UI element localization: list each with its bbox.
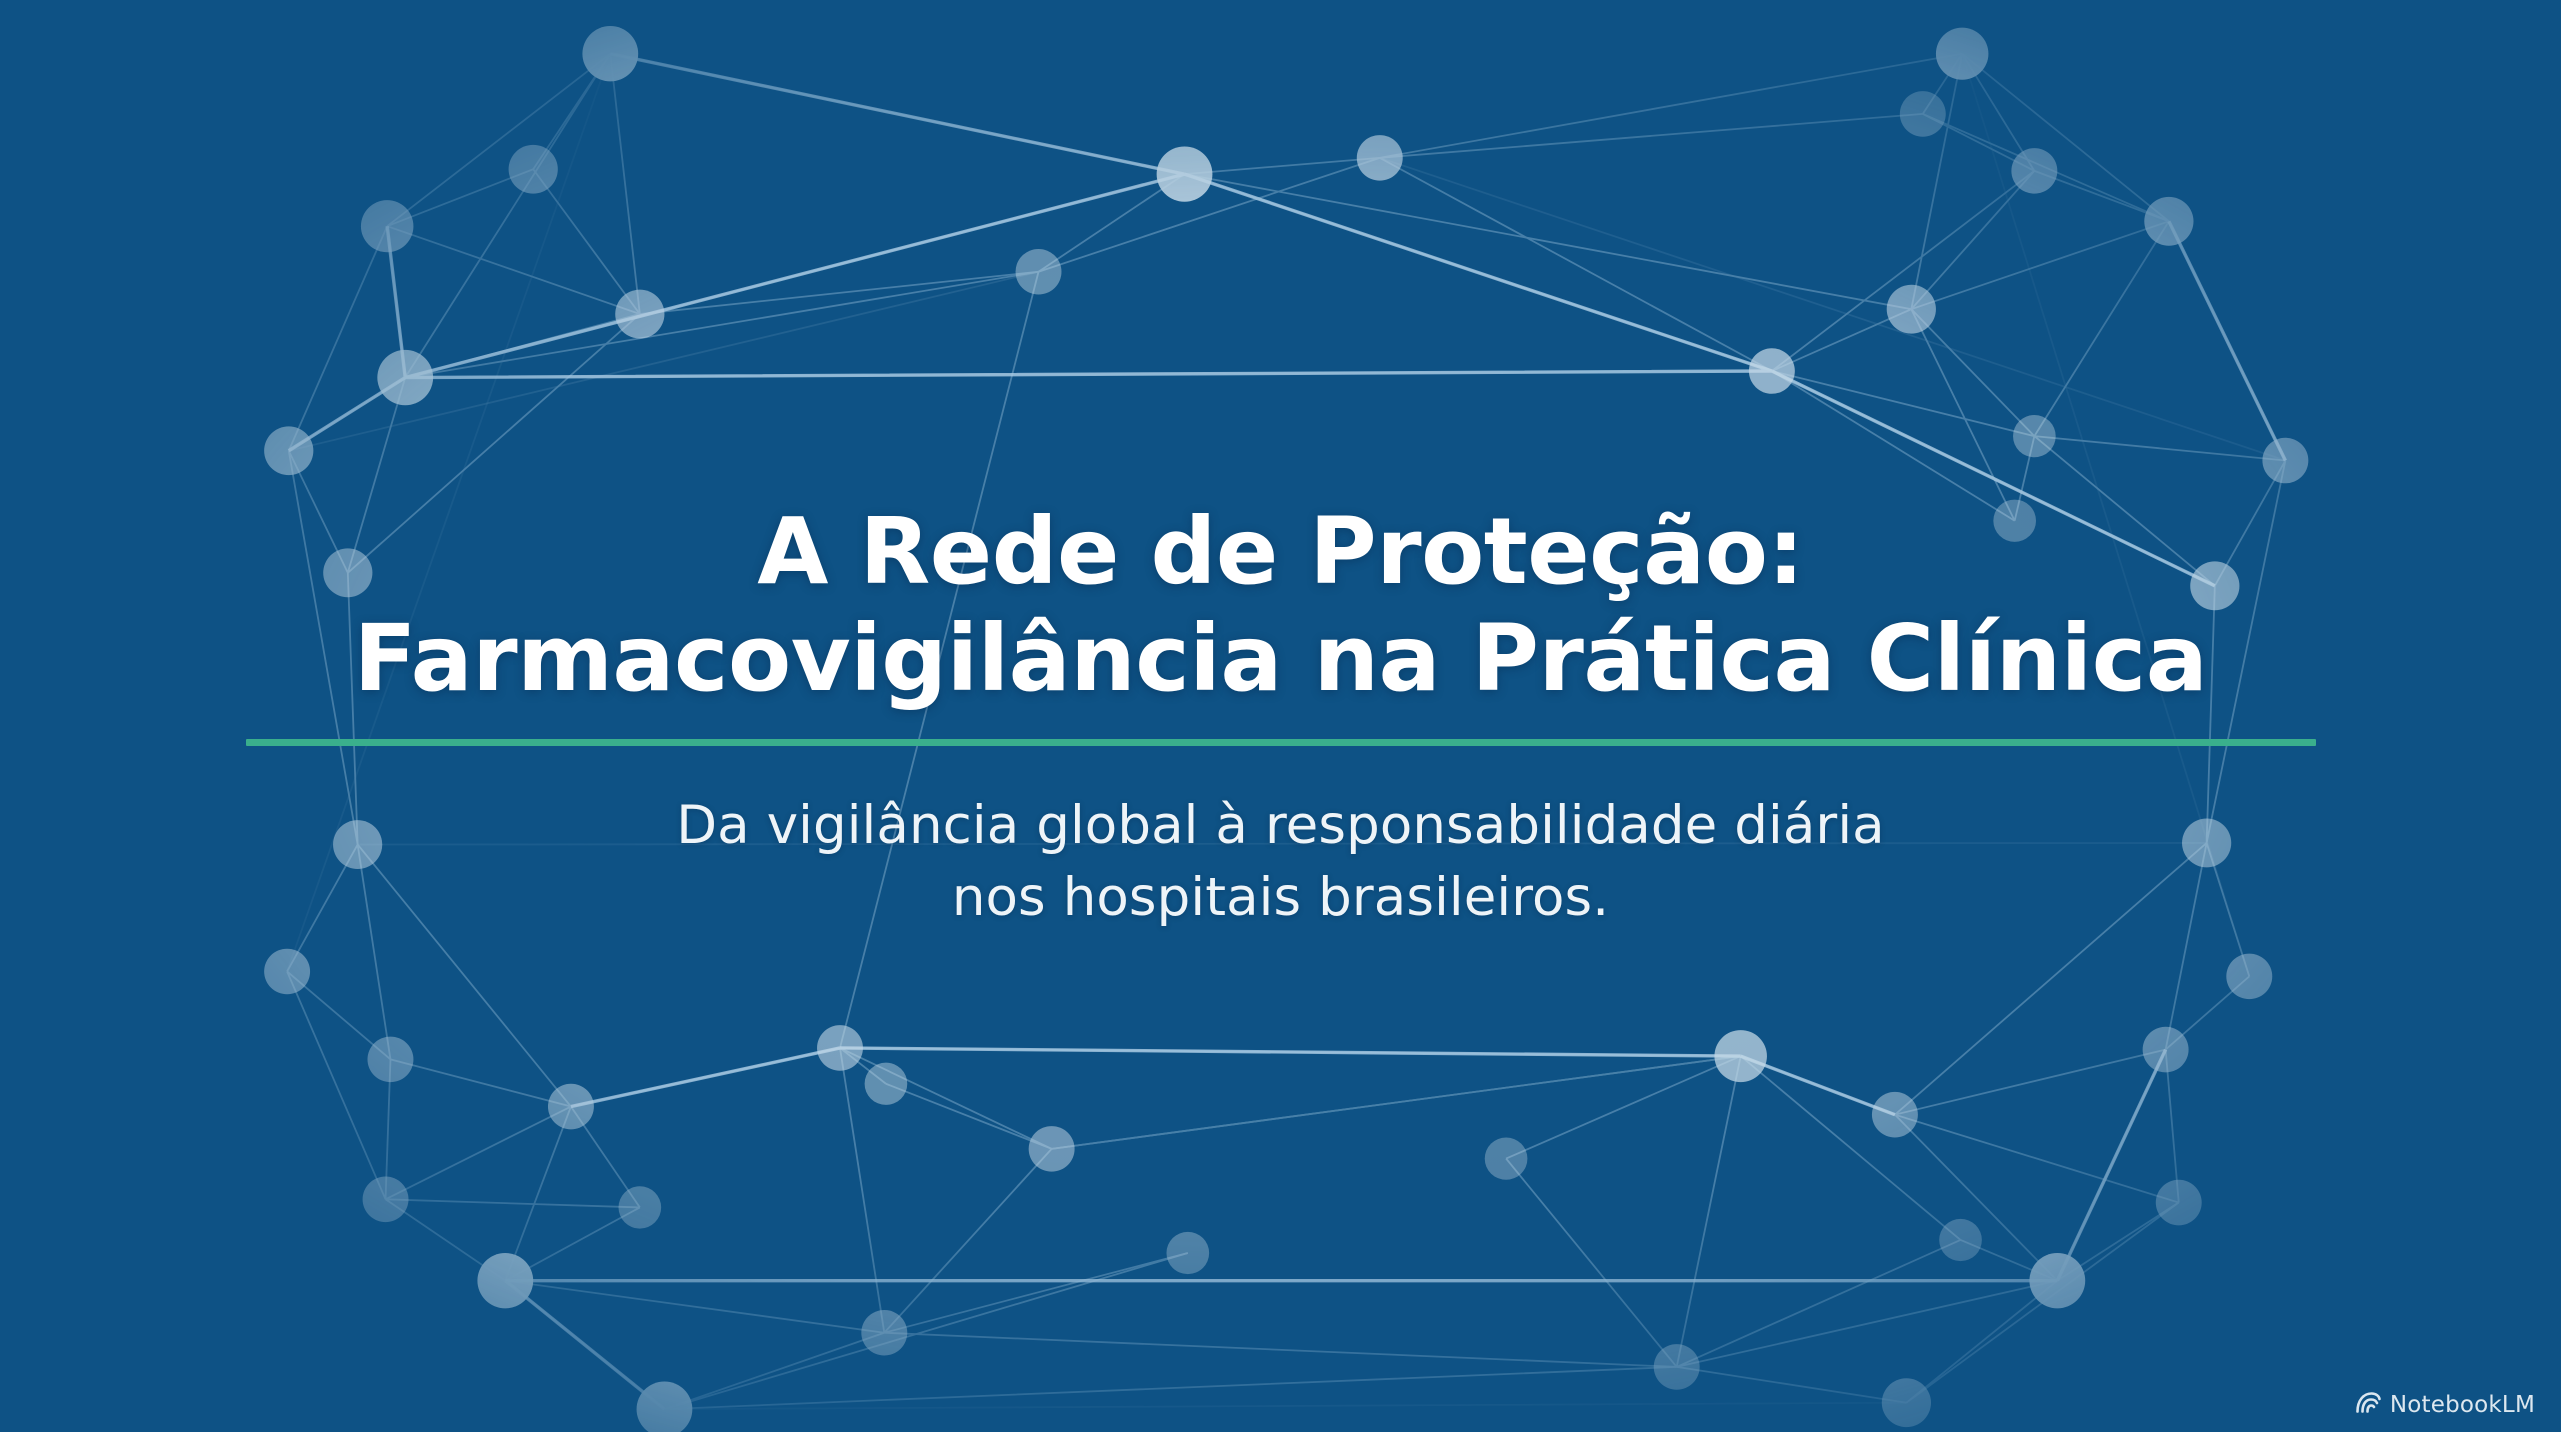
title-block: A Rede de Proteção: Farmacovigilância na… xyxy=(231,498,2331,746)
bottom-edge-strip xyxy=(0,1432,2561,1441)
title-divider xyxy=(246,739,2316,746)
title-slide: A Rede de Proteção: Farmacovigilância na… xyxy=(0,0,2561,1432)
slide-content: A Rede de Proteção: Farmacovigilância na… xyxy=(0,0,2561,1432)
slide-title-line-1: A Rede de Proteção: xyxy=(231,498,2331,606)
slide-title-line-2: Farmacovigilância na Prática Clínica xyxy=(231,605,2331,713)
notebooklm-label: NotebookLM xyxy=(2390,1392,2535,1418)
notebooklm-icon xyxy=(2356,1391,2381,1418)
slide-subtitle-line-1: Da vigilância global à responsabilidade … xyxy=(676,790,1884,862)
subtitle-block: Da vigilância global à responsabilidade … xyxy=(676,790,1884,934)
slide-subtitle-line-2: nos hospitais brasileiros. xyxy=(676,862,1884,934)
notebooklm-watermark: NotebookLM xyxy=(2356,1391,2535,1418)
